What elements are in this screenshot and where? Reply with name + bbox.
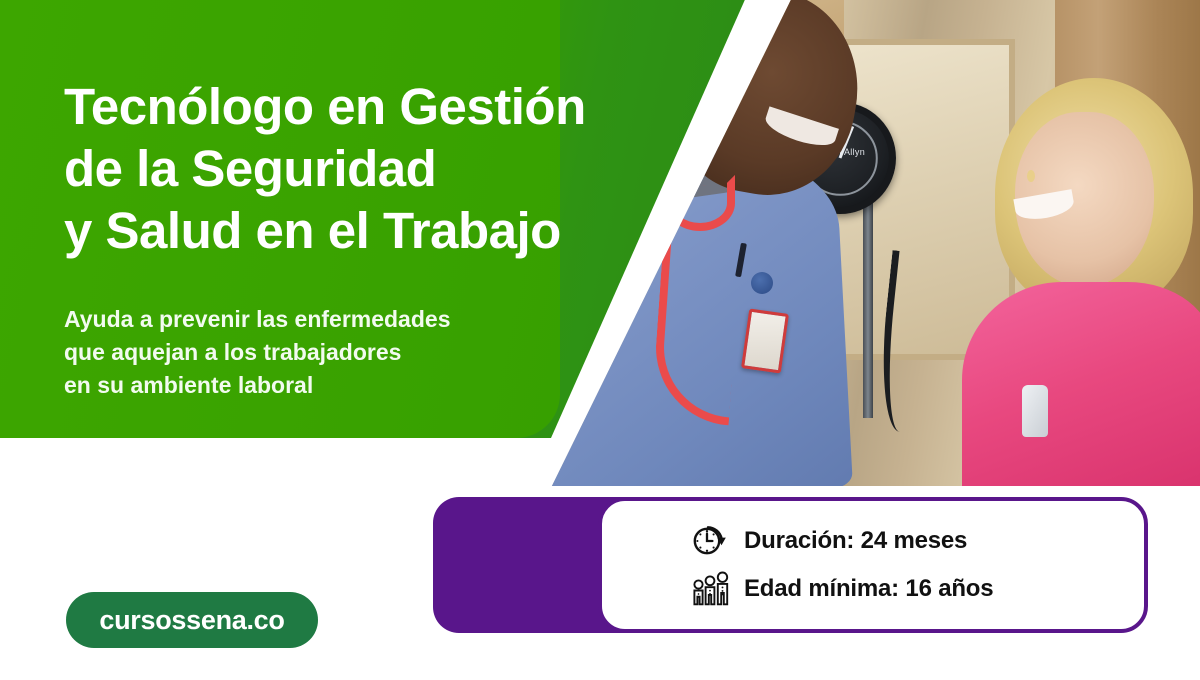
page-title-line-1: Tecnólogo en Gestión — [64, 76, 684, 138]
info-label-min-age: Edad mínima: 16 años — [744, 575, 993, 603]
page-title: Tecnólogo en Gestión de la Seguridad y S… — [64, 76, 684, 263]
info-row-min-age: Edad mínima: 16 años — [688, 565, 1144, 613]
photo-patient-shirt — [962, 282, 1200, 486]
photo-id-badge — [741, 309, 789, 374]
info-row-duration: Duración: 24 meses — [688, 517, 1144, 565]
photo-inhaler — [1022, 385, 1048, 437]
site-logo-label: cursossena.co — [99, 605, 284, 636]
photo-patient-earring — [1027, 170, 1035, 182]
course-promo-banner: Welch Allyn Tecnólogo en — [0, 0, 1200, 680]
site-logo-badge[interactable]: cursossena.co — [66, 592, 318, 648]
page-title-line-2: de la Seguridad — [64, 138, 684, 200]
page-subtitle: Ayuda a prevenir las enfermedades que aq… — [64, 303, 584, 402]
info-card: Duración: 24 meses — [598, 497, 1148, 633]
three-people-icon — [688, 569, 734, 609]
photo-gauge-stand — [863, 194, 873, 418]
info-label-duration: Duración: 24 meses — [744, 527, 967, 555]
page-subtitle-line-3: en su ambiente laboral — [64, 369, 584, 402]
page-title-line-3: y Salud en el Trabajo — [64, 200, 684, 262]
page-subtitle-line-1: Ayuda a prevenir las enfermedades — [64, 303, 584, 336]
clock-arrow-icon — [688, 521, 734, 561]
page-subtitle-line-2: que aquejan a los trabajadores — [64, 336, 584, 369]
